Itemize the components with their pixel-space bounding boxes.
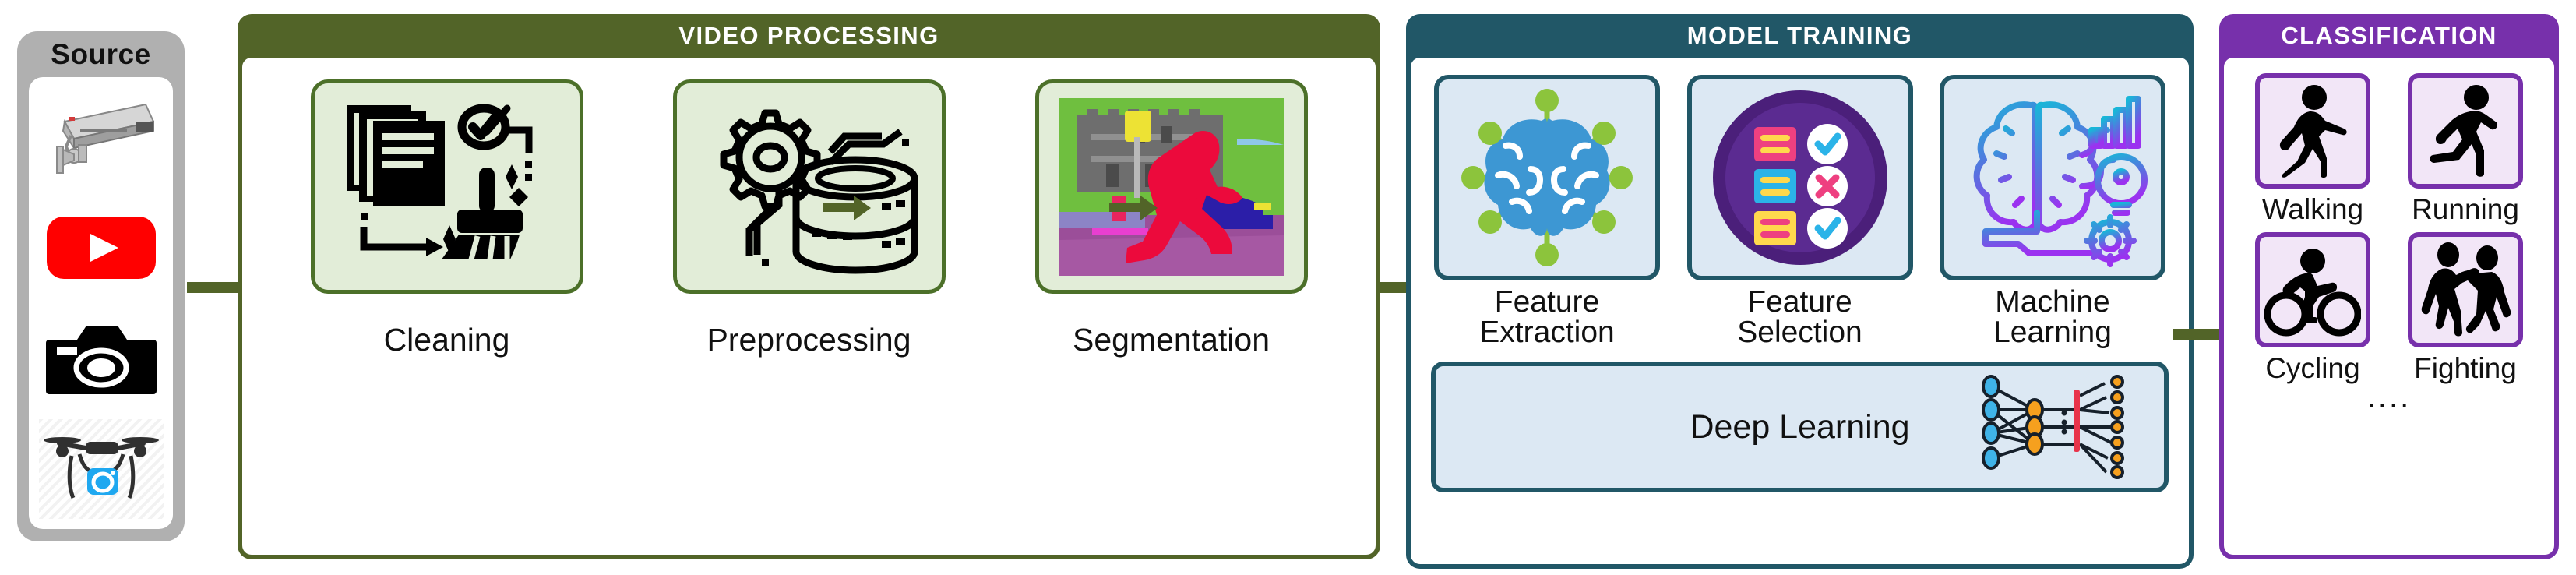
- machine-learning-line2: Learning: [1993, 316, 2112, 349]
- model-training-section: MODEL TRAINING: [1406, 14, 2194, 569]
- feature-extraction-line2: Extraction: [1479, 316, 1614, 349]
- arrow-cleaning-to-preprocessing: [823, 203, 854, 212]
- youtube-logo-icon: [44, 209, 159, 287]
- source-title: Source: [51, 38, 150, 71]
- cctv-camera-icon: [43, 98, 160, 176]
- class-card-fighting[interactable]: Fighting: [2395, 232, 2535, 385]
- cycling-label: Cycling: [2265, 352, 2359, 385]
- classification-section: CLASSIFICATION Walking: [2219, 14, 2559, 559]
- cleaning-tile: [311, 79, 583, 294]
- video-processing-section: VIDEO PROCESSING: [238, 14, 1380, 559]
- fighting-people-icon: [2416, 242, 2515, 337]
- model-training-title: MODEL TRAINING: [1406, 14, 2194, 58]
- video-step-preprocessing[interactable]: Preprocessing: [669, 79, 950, 358]
- running-person-icon: [2419, 83, 2512, 178]
- video-processing-body: Cleaning: [242, 58, 1376, 555]
- arrow-model-to-classification: [2173, 329, 2222, 340]
- class-card-walking[interactable]: Walking: [2243, 73, 2383, 226]
- preprocessing-tile: [673, 79, 946, 294]
- classification-title: CLASSIFICATION: [2219, 14, 2559, 58]
- feature-selection-line1: Feature: [1747, 285, 1852, 319]
- deep-learning-label: Deep Learning: [1690, 408, 1909, 446]
- running-tile: [2408, 73, 2523, 189]
- cycling-person-icon: [2264, 242, 2361, 337]
- source-item-cctv: [39, 87, 164, 187]
- pipeline-diagram: Source: [0, 0, 2576, 575]
- drone-camera-icon: [42, 428, 160, 510]
- video-processing-title: VIDEO PROCESSING: [238, 14, 1380, 58]
- brain-nodes-icon: [1450, 88, 1644, 267]
- running-label: Running: [2412, 193, 2519, 226]
- source-panel: Source: [17, 31, 185, 541]
- arrow-video-to-model: [1380, 282, 1408, 293]
- feature-selection-label: Feature Selection: [1737, 287, 1862, 347]
- cycling-tile: [2255, 232, 2370, 347]
- checklist-circle-icon: [1711, 88, 1890, 267]
- documents-broom-icon: [334, 99, 560, 274]
- source-item-camera: [39, 309, 164, 408]
- model-card-feature-selection[interactable]: Feature Selection: [1684, 75, 1916, 347]
- feature-extraction-tile: [1434, 75, 1660, 280]
- arrow-preprocessing-to-segmentation: [1109, 203, 1140, 212]
- walking-person-icon: [2266, 83, 2359, 178]
- gear-database-icon: [696, 99, 922, 274]
- walking-label: Walking: [2262, 193, 2363, 226]
- neural-network-icon: [1974, 372, 2137, 482]
- deep-learning-icon-wrap: [1974, 372, 2137, 482]
- model-card-feature-extraction[interactable]: Feature Extraction: [1431, 75, 1663, 347]
- class-card-running[interactable]: Running: [2395, 73, 2535, 226]
- model-training-body: Feature Extraction: [1411, 58, 2189, 564]
- machine-learning-tile: [1940, 75, 2165, 280]
- video-step-segmentation[interactable]: Segmentation: [1031, 79, 1312, 358]
- arrow-source-to-video: [187, 282, 238, 293]
- machine-learning-line1: Machine: [1995, 285, 2109, 319]
- video-step-cleaning[interactable]: Cleaning: [307, 79, 587, 358]
- source-items-list: [29, 77, 173, 529]
- fighting-label: Fighting: [2414, 352, 2517, 385]
- source-item-youtube: [39, 198, 164, 298]
- classification-more-indicator: ....: [2367, 382, 2411, 413]
- walking-tile: [2255, 73, 2370, 189]
- model-card-machine-learning[interactable]: Machine Learning: [1936, 75, 2169, 347]
- segmentation-tile: [1035, 79, 1308, 294]
- brain-bulb-gear-chart-icon: [1951, 88, 2154, 267]
- cleaning-label: Cleaning: [384, 322, 510, 358]
- segmented-street-scene-icon: [1059, 98, 1284, 276]
- class-card-cycling[interactable]: Cycling: [2243, 232, 2383, 385]
- source-item-drone: [39, 419, 164, 519]
- preprocessing-label: Preprocessing: [707, 322, 911, 358]
- feature-selection-tile: [1687, 75, 1913, 280]
- fighting-tile: [2408, 232, 2523, 347]
- feature-extraction-line1: Feature: [1495, 285, 1599, 319]
- deep-learning-card[interactable]: Deep Learning: [1431, 362, 2169, 492]
- segmentation-label: Segmentation: [1073, 322, 1270, 358]
- photo-camera-icon: [43, 318, 160, 399]
- machine-learning-label: Machine Learning: [1993, 287, 2112, 347]
- feature-selection-line2: Selection: [1737, 316, 1862, 349]
- feature-extraction-label: Feature Extraction: [1479, 287, 1614, 347]
- classification-body: Walking Running: [2224, 58, 2554, 555]
